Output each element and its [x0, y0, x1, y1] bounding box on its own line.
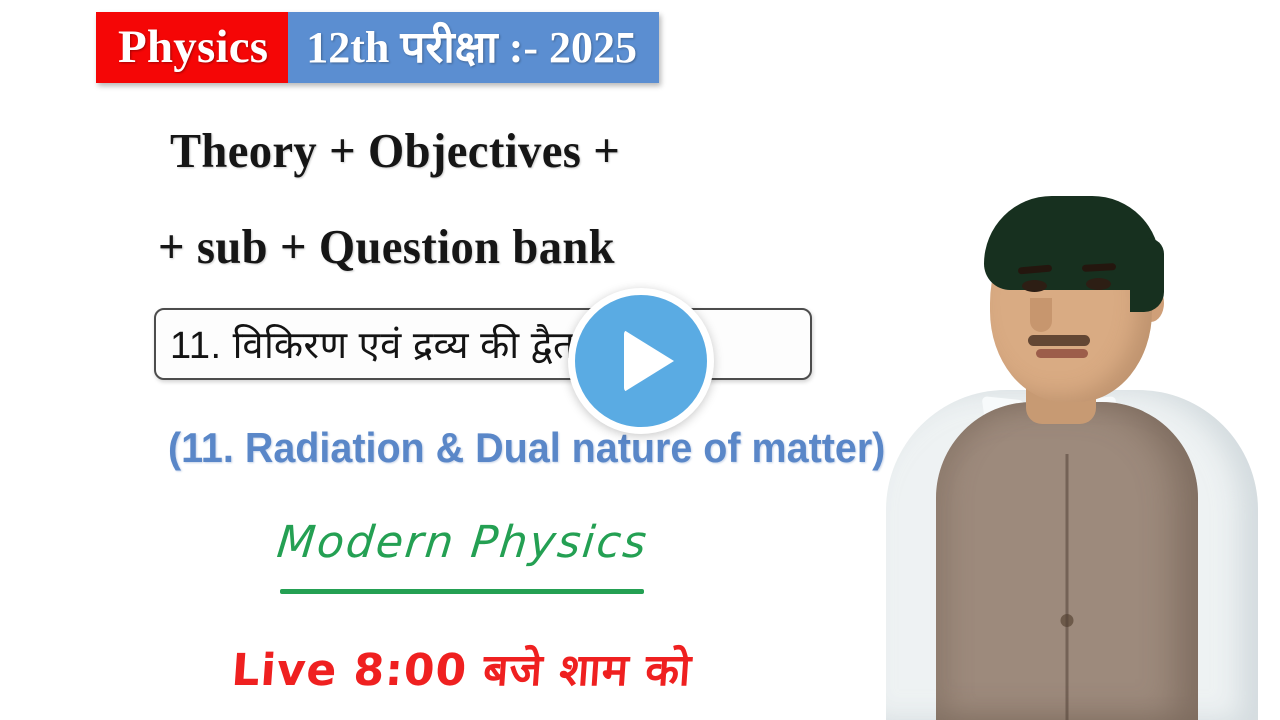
- live-schedule-text: Live 8:00 बजे शाम को: [230, 638, 694, 698]
- presenter-mouth: [1036, 349, 1088, 358]
- headline-sub-question-bank: + sub + Question bank: [158, 218, 615, 275]
- presenter-hair: [984, 196, 1160, 290]
- presenter-photo: [860, 140, 1280, 720]
- video-thumbnail: Physics 12th परीक्षा :- 2025 Theory + Ob…: [0, 0, 1280, 720]
- header-banner: Physics 12th परीक्षा :- 2025: [96, 12, 659, 83]
- presenter-moustache: [1028, 335, 1090, 346]
- chapter-title-english: (11. Radiation & Dual nature of matter): [168, 424, 885, 472]
- play-button[interactable]: [568, 288, 714, 434]
- exam-year-tag: 12th परीक्षा :- 2025: [288, 12, 659, 83]
- headline-theory-objectives: Theory + Objectives +: [170, 122, 620, 179]
- presenter-vest: [936, 402, 1198, 720]
- subject-tag: Physics: [96, 12, 288, 83]
- presenter-vest-button: [1061, 614, 1074, 627]
- presenter-nose: [1030, 298, 1052, 332]
- play-icon: [624, 330, 674, 392]
- subject-note-underline: [280, 589, 644, 594]
- presenter-eye-left: [1022, 280, 1047, 292]
- presenter-eye-right: [1086, 278, 1111, 290]
- subject-note-label: Modern Physics: [275, 517, 651, 568]
